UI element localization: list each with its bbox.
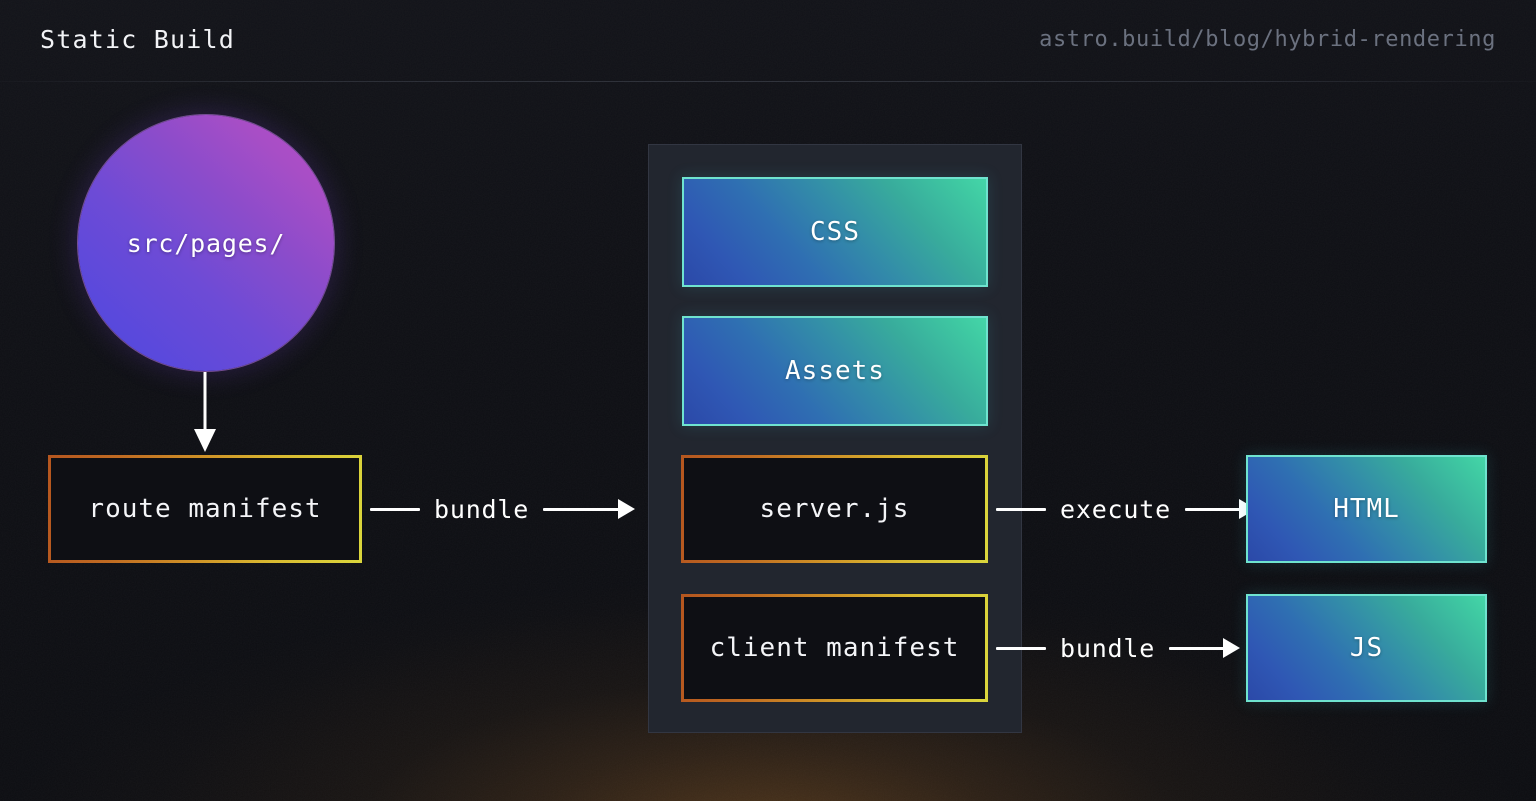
arrow-label-bundle-2: bundle <box>1046 634 1169 663</box>
node-client-manifest-label: client manifest <box>710 633 960 663</box>
arrow-label-execute: execute <box>1046 495 1185 524</box>
node-assets: Assets <box>682 316 988 426</box>
arrow-execute-to-html: execute <box>996 489 1256 529</box>
arrow-head-group <box>1169 638 1240 658</box>
arrow-tip-icon <box>1223 638 1240 658</box>
node-js-label: JS <box>1350 633 1383 663</box>
node-css: CSS <box>682 177 988 287</box>
source-url: astro.build/blog/hybrid-rendering <box>1039 27 1496 52</box>
arrow-line-segment <box>996 508 1046 511</box>
node-src-pages-label: src/pages/ <box>127 229 286 258</box>
node-route-manifest: route manifest <box>48 455 362 563</box>
arrow-down-icon <box>183 372 227 454</box>
node-src-pages: src/pages/ <box>78 115 334 371</box>
arrow-bundle-to-server: bundle <box>370 489 635 529</box>
arrow-line-segment <box>996 647 1046 650</box>
arrow-line-segment <box>1185 508 1240 511</box>
node-client-manifest: client manifest <box>681 594 988 702</box>
node-css-label: CSS <box>810 217 860 247</box>
arrow-line-segment <box>543 508 619 511</box>
arrow-line-segment <box>1169 647 1224 650</box>
diagram-canvas: Static Build astro.build/blog/hybrid-ren… <box>0 0 1536 801</box>
node-server-js: server.js <box>681 455 988 563</box>
arrow-label-bundle-1: bundle <box>420 495 543 524</box>
node-html: HTML <box>1246 455 1487 563</box>
node-html-label: HTML <box>1333 494 1400 524</box>
arrow-head-group <box>543 499 635 519</box>
node-server-js-label: server.js <box>760 494 910 524</box>
page-title: Static Build <box>40 25 235 54</box>
node-js: JS <box>1246 594 1487 702</box>
arrow-tip-icon <box>618 499 635 519</box>
node-assets-label: Assets <box>785 356 885 386</box>
arrow-line-segment <box>370 508 420 511</box>
header-divider <box>0 81 1536 82</box>
header-bar: Static Build astro.build/blog/hybrid-ren… <box>0 0 1536 81</box>
arrow-bundle-to-js: bundle <box>996 628 1240 668</box>
node-route-manifest-label: route manifest <box>88 494 321 524</box>
